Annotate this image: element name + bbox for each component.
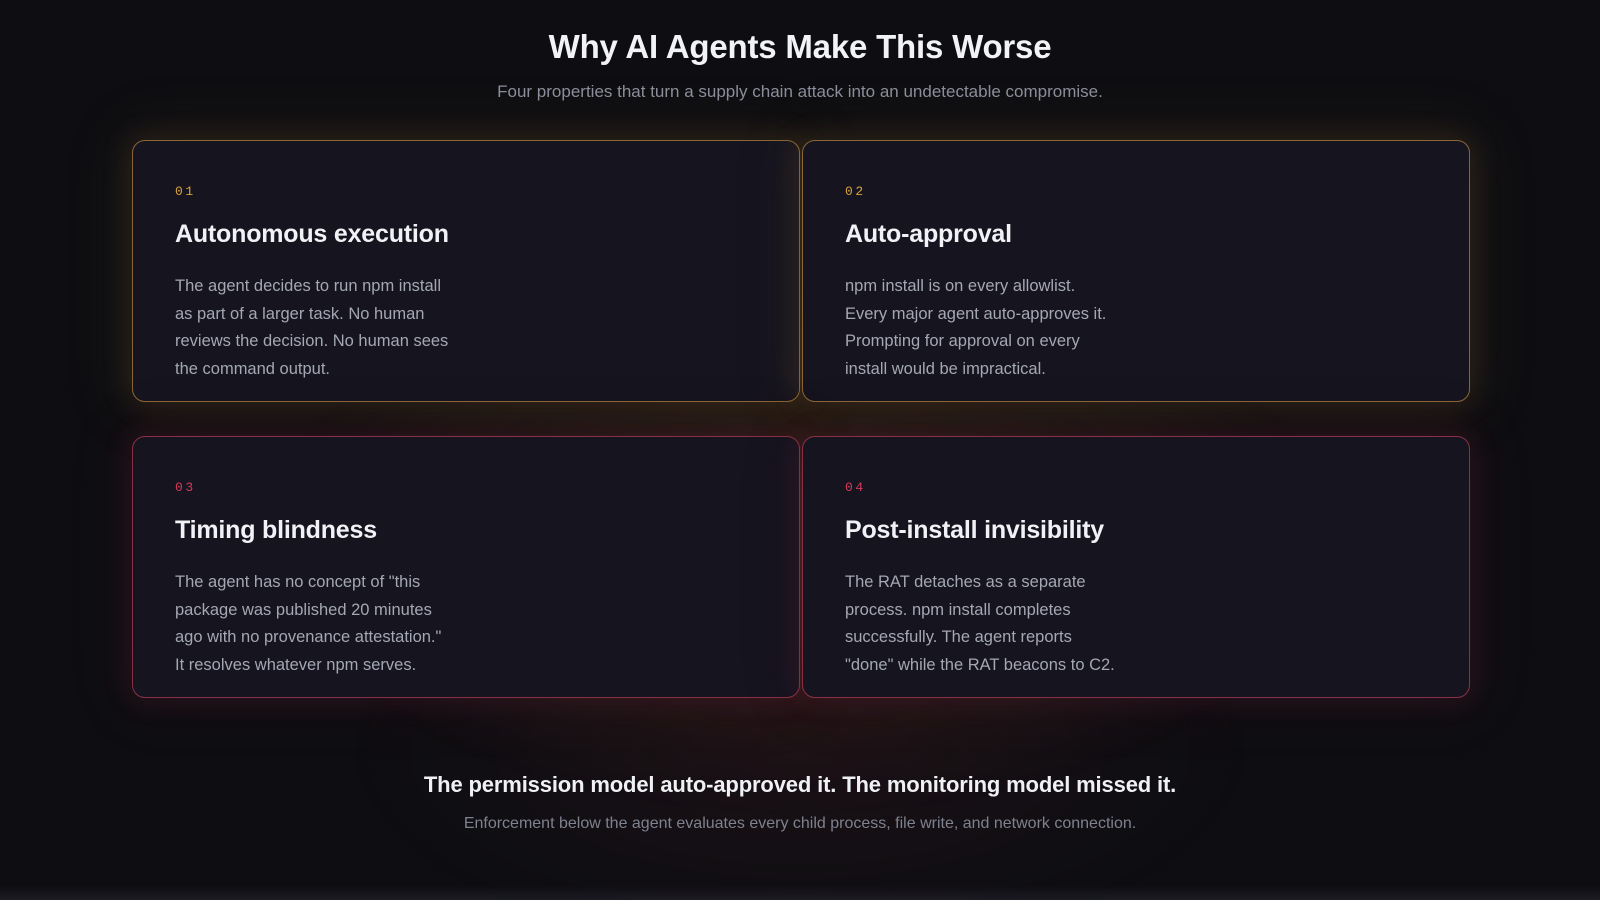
card-body-text: npm install is on every allowlist. Every… xyxy=(845,273,1425,383)
card-title: Post-install invisibility xyxy=(845,516,1425,545)
card-body-text: The RAT detaches as a separate process. … xyxy=(845,569,1425,679)
properties-card-grid: 01 Autonomous execution The agent decide… xyxy=(131,140,1469,698)
page-title: Why AI Agents Make This Worse xyxy=(0,26,1600,67)
card-number-badge: 02 xyxy=(845,184,1425,199)
footer-headline: The permission model auto-approved it. T… xyxy=(0,772,1600,798)
card-title: Auto-approval xyxy=(845,220,1425,249)
property-card-02[interactable]: 02 Auto-approval npm install is on every… xyxy=(802,140,1470,402)
property-card-03[interactable]: 03 Timing blindness The agent has no con… xyxy=(132,436,800,698)
property-card-04[interactable]: 04 Post-install invisibility The RAT det… xyxy=(802,436,1470,698)
property-card-01[interactable]: 01 Autonomous execution The agent decide… xyxy=(132,140,800,402)
section-footer: The permission model auto-approved it. T… xyxy=(0,772,1600,833)
card-number-badge: 04 xyxy=(845,480,1425,495)
card-body-text: The agent decides to run npm install as … xyxy=(175,273,755,383)
card-number-badge: 03 xyxy=(175,480,755,495)
section-header: Why AI Agents Make This Worse Four prope… xyxy=(0,26,1600,102)
card-title: Autonomous execution xyxy=(175,220,755,249)
card-number-badge: 01 xyxy=(175,184,755,199)
card-body-text: The agent has no concept of "this packag… xyxy=(175,569,755,679)
page-root: Why AI Agents Make This Worse Four prope… xyxy=(0,0,1600,900)
footer-subtext: Enforcement below the agent evaluates ev… xyxy=(0,815,1600,833)
card-title: Timing blindness xyxy=(175,516,755,545)
page-subtitle: Four properties that turn a supply chain… xyxy=(0,82,1600,102)
